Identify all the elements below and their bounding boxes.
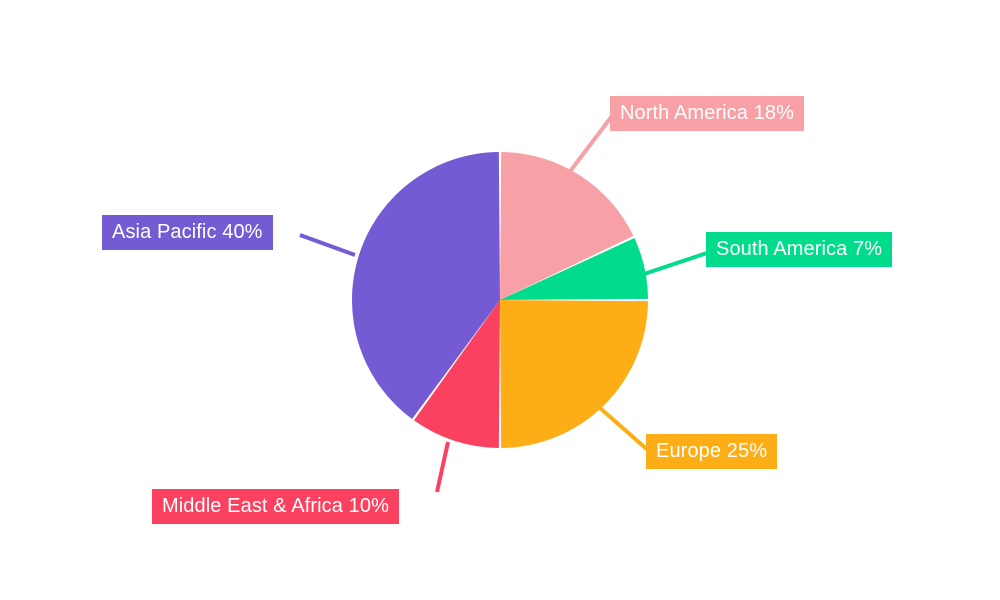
leader-line-asia-pacific (300, 235, 355, 255)
pie-slice-europe[interactable] (500, 300, 648, 448)
pie-chart-canvas (0, 0, 1000, 600)
leader-line-north-america (565, 116, 612, 178)
pie-label-middle-east-africa-text: Middle East & Africa 10% (162, 494, 389, 518)
pie-chart-figure: North America 18% South America 7% Europ… (0, 0, 1000, 600)
leader-line-middle-east-africa (437, 442, 448, 492)
leader-line-europe (600, 408, 650, 452)
pie-label-asia-pacific[interactable]: Asia Pacific 40% (102, 215, 273, 250)
pie-label-south-america-text: South America 7% (716, 237, 882, 261)
pie-label-south-america[interactable]: South America 7% (706, 232, 892, 267)
pie-label-europe[interactable]: Europe 25% (646, 434, 777, 469)
pie-label-europe-text: Europe 25% (656, 439, 767, 463)
pie-label-middle-east-africa[interactable]: Middle East & Africa 10% (152, 489, 399, 524)
leader-line-south-america (644, 252, 710, 274)
pie-label-asia-pacific-text: Asia Pacific 40% (112, 220, 263, 244)
pie-label-north-america-text: North America 18% (620, 101, 794, 125)
pie-label-north-america[interactable]: North America 18% (610, 96, 804, 131)
pie-slices-group (352, 152, 648, 448)
